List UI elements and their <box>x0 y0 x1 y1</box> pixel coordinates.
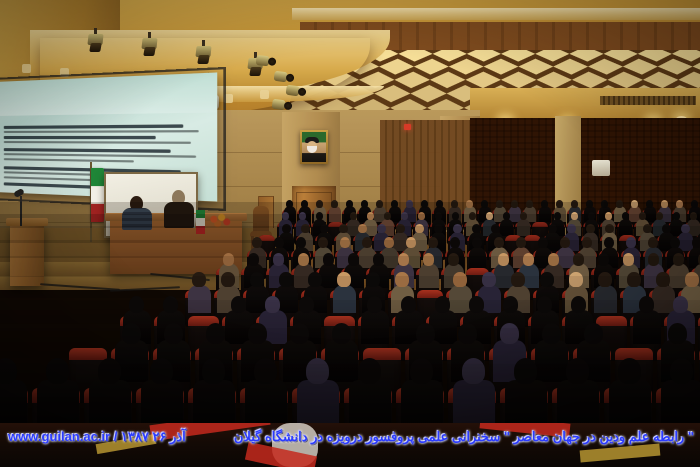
spotlight-icon <box>255 55 276 69</box>
framed-portrait <box>300 130 328 164</box>
audience-member <box>594 272 617 317</box>
caption-lecture-title: " رابطه علم ودین در جهان معاصر " سخنرانی… <box>234 429 694 445</box>
ceiling-coffer-rim <box>292 8 700 20</box>
ceiling-vent <box>600 96 696 105</box>
spotlight-icon <box>142 32 157 56</box>
audience-member <box>539 200 551 224</box>
audience-member <box>361 296 388 350</box>
spotlight-icon <box>88 28 103 52</box>
audience-member <box>633 296 660 350</box>
spotlight-icon <box>273 71 294 86</box>
spotlight-icon <box>196 40 211 64</box>
caption-bar: www.guilan.ac.ir / ۱۳۸۷ آذر ۲۶ " رابطه ع… <box>0 423 700 467</box>
audience-member <box>333 272 356 317</box>
auditorium-photograph: www.guilan.ac.ir / ۱۳۸۷ آذر ۲۶ " رابطه ع… <box>0 0 700 467</box>
audience-member <box>329 200 341 224</box>
audience-area <box>0 196 700 436</box>
exit-sign <box>404 124 411 130</box>
caption-url-date: www.guilan.ac.ir / ۱۳۸۷ آذر ۲۶ <box>8 429 186 445</box>
spotlight-icon <box>285 85 306 100</box>
audience-member <box>419 253 439 292</box>
wall-mounted-box <box>592 160 610 176</box>
audience-member <box>469 237 487 272</box>
audience-member <box>188 272 211 317</box>
